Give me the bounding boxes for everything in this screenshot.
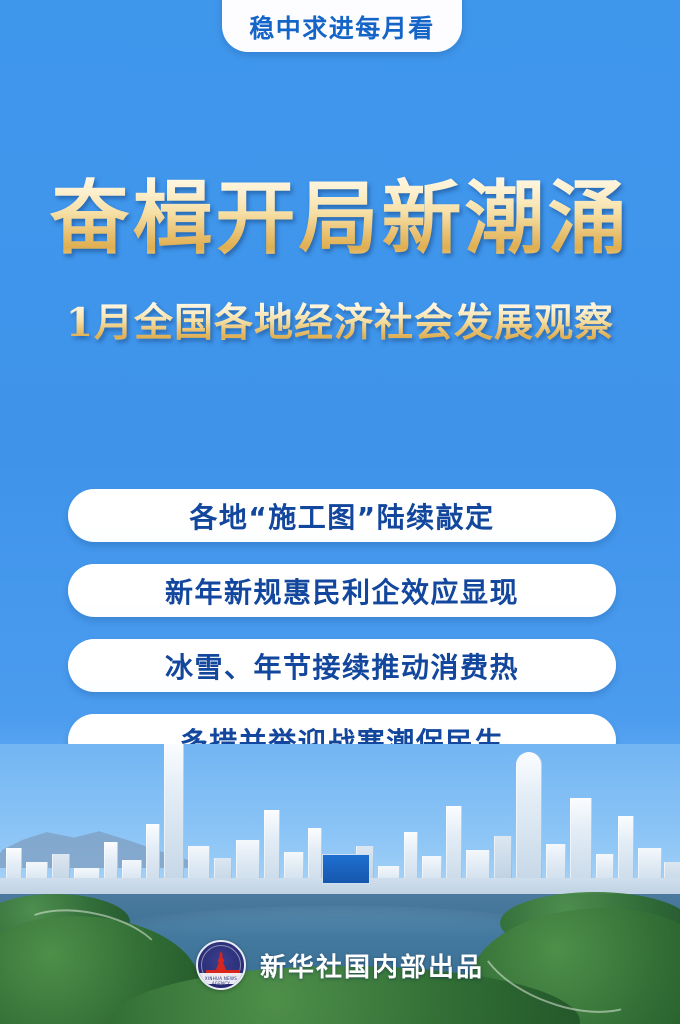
- emblem-band-text: XINHUA NEWS AGENCY: [198, 976, 244, 986]
- billboard: [322, 854, 370, 884]
- series-badge-label: 稳中求进每月看: [249, 9, 435, 45]
- list-item[interactable]: 冰雪、年节接续推动消费热: [68, 639, 616, 692]
- emblem-band: XINHUA NEWS AGENCY: [198, 973, 244, 984]
- list-item[interactable]: 新年新规惠民利企效应显现: [68, 564, 616, 617]
- list-item[interactable]: 各地“施工图”陆续敲定: [68, 489, 616, 542]
- page-title-text: 奋楫开局新潮涌: [50, 171, 631, 265]
- xinhua-emblem-icon: XINHUA NEWS AGENCY: [196, 940, 246, 990]
- poster-root: 稳中求进每月看 奋楫开局新潮涌 1月全国各地经济社会发展观察 各地“施工图”陆续…: [0, 0, 680, 1024]
- page-title: 奋楫开局新潮涌: [0, 176, 680, 260]
- series-badge: 稳中求进每月看: [222, 0, 462, 52]
- list-item-label: 冰雪、年节接续推动消费热: [165, 646, 519, 686]
- footer-credit: XINHUA NEWS AGENCY 新华社国内部出品: [0, 940, 680, 990]
- page-subtitle-text: 1月全国各地经济社会发展观察: [66, 300, 614, 346]
- list-item-label: 新年新规惠民利企效应显现: [165, 571, 519, 611]
- list-item-label: 各地“施工图”陆续敲定: [189, 496, 494, 536]
- footer-credit-label: 新华社国内部出品: [260, 947, 484, 984]
- page-subtitle: 1月全国各地经济社会发展观察: [0, 302, 680, 345]
